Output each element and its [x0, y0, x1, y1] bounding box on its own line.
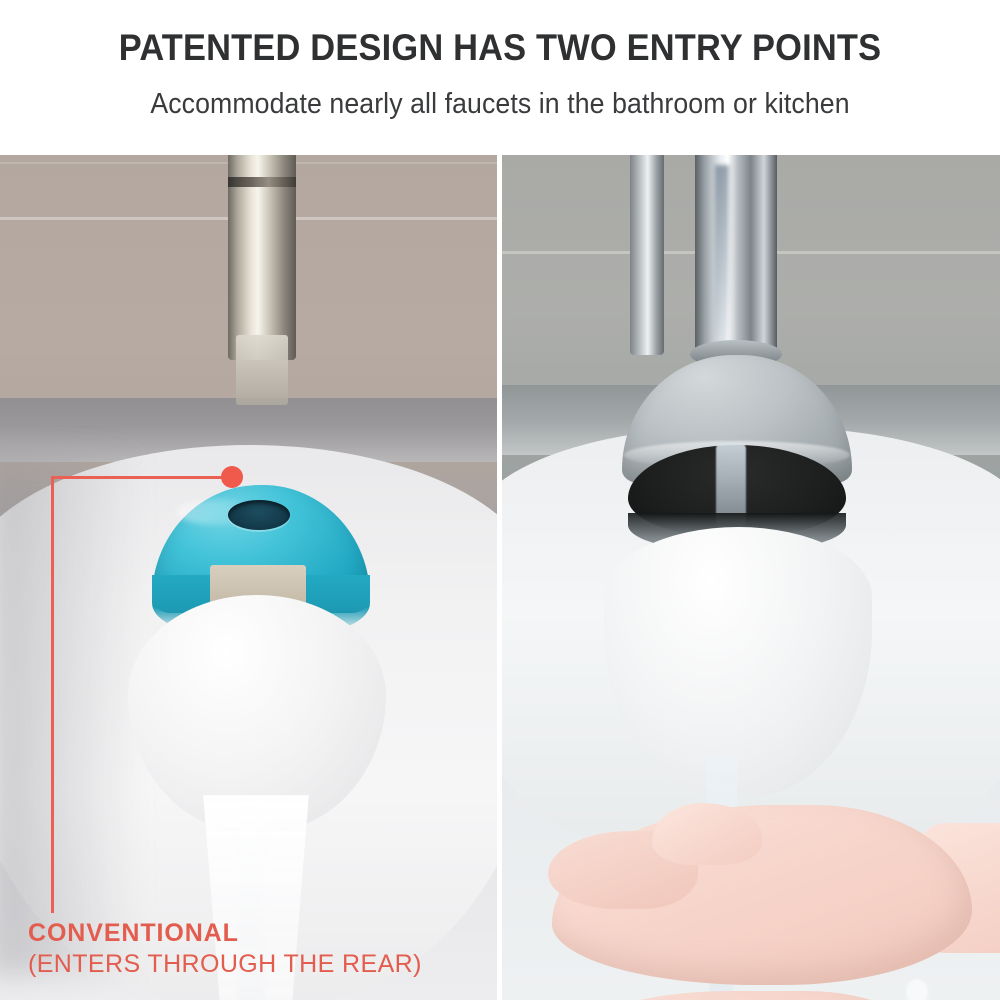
panel-conventional: CONVENTIONAL (ENTERS THROUGH THE REAR)	[0, 155, 497, 1000]
panel-gooseneck: GOOSENECK (ENTERS THROUGH THE TOP)	[502, 155, 1000, 1000]
callout-line-vertical	[51, 476, 54, 913]
photo-gooseneck-faucet	[502, 155, 1000, 1000]
hand-lower	[520, 991, 950, 1000]
label-conventional-title: CONVENTIONAL	[28, 918, 422, 948]
page-subtitle: Accommodate nearly all faucets in the ba…	[40, 85, 960, 123]
faucet-band	[228, 177, 296, 187]
faucet-lower-spout	[236, 335, 288, 405]
page-title: PATENTED DESIGN HAS TWO ENTRY POINTS	[35, 26, 965, 70]
label-conventional: CONVENTIONAL (ENTERS THROUGH THE REAR)	[28, 918, 422, 980]
label-conventional-subtitle: (ENTERS THROUGH THE REAR)	[28, 948, 422, 980]
sink-shadow	[0, 455, 140, 975]
chrome-reflection	[715, 165, 729, 345]
cover-top-entry-hole	[228, 500, 290, 530]
secondary-chrome-pipe	[630, 155, 664, 355]
callout-line-horizontal	[51, 476, 233, 479]
photo-conventional-faucet	[0, 155, 497, 1000]
infographic-page: PATENTED DESIGN HAS TWO ENTRY POINTS Acc…	[0, 0, 1000, 1000]
water-splash	[906, 979, 928, 1000]
gooseneck-faucet-spout	[695, 155, 777, 357]
callout-dot-icon	[221, 466, 243, 488]
header: PATENTED DESIGN HAS TWO ENTRY POINTS Acc…	[0, 0, 1000, 155]
